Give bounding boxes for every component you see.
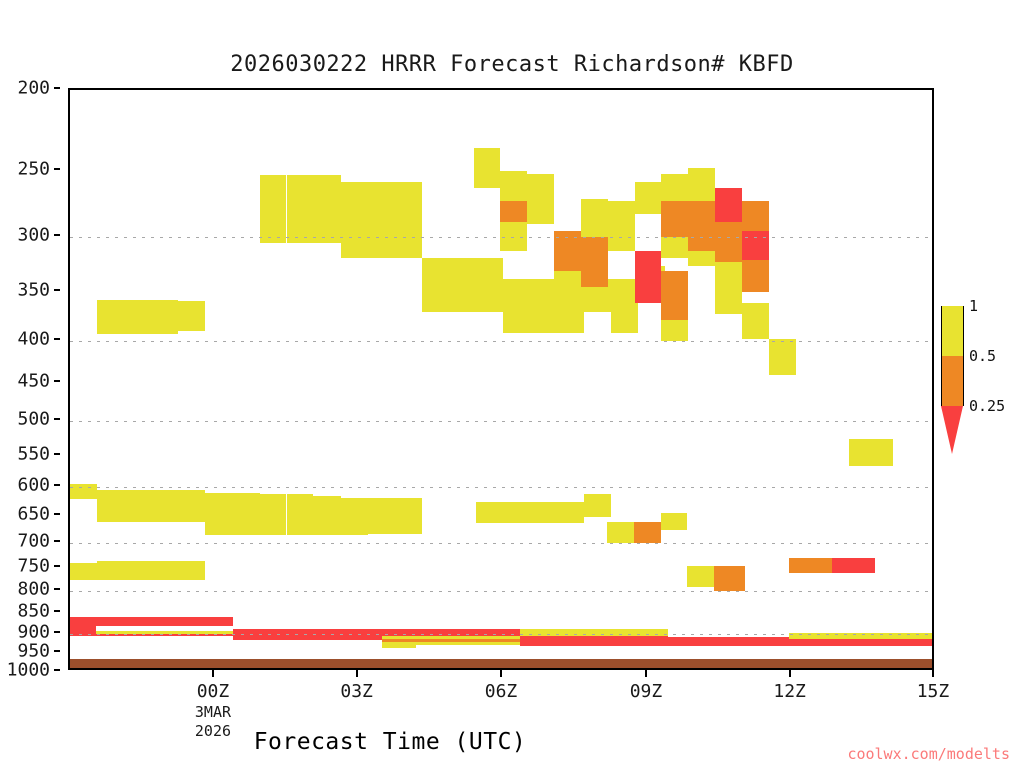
x-axis-label: 03Z [340,681,373,702]
colorbar: 10.50.25 [941,306,964,456]
colorbar-label: 0.25 [969,397,1005,415]
x-axis-tick [645,670,647,677]
x-axis-label: 15Z [917,681,950,702]
x-axis: 00Z3MAR202603Z06Z09Z12Z15Z [0,0,1024,768]
x-axis-label: 09Z [630,681,663,702]
colorbar-segment [941,356,964,406]
x-axis-tick [500,670,502,677]
x-axis-title: Forecast Time (UTC) [0,729,780,755]
x-axis-tick [932,670,934,677]
x-axis-label: 00Z [197,681,230,702]
x-axis-tick [356,670,358,677]
x-axis-tick [212,670,214,677]
x-axis-label: 12Z [773,681,806,702]
colorbar-segment [941,306,964,356]
colorbar-arrow-down [941,406,963,454]
x-axis-date-label: 3MAR [195,703,231,721]
x-axis-tick [789,670,791,677]
watermark: coolwx.com/modelts [847,745,1010,763]
colorbar-label: 0.5 [969,347,996,365]
colorbar-arrow-up [941,274,963,306]
x-axis-label: 06Z [485,681,518,702]
colorbar-label: 1 [969,297,978,315]
